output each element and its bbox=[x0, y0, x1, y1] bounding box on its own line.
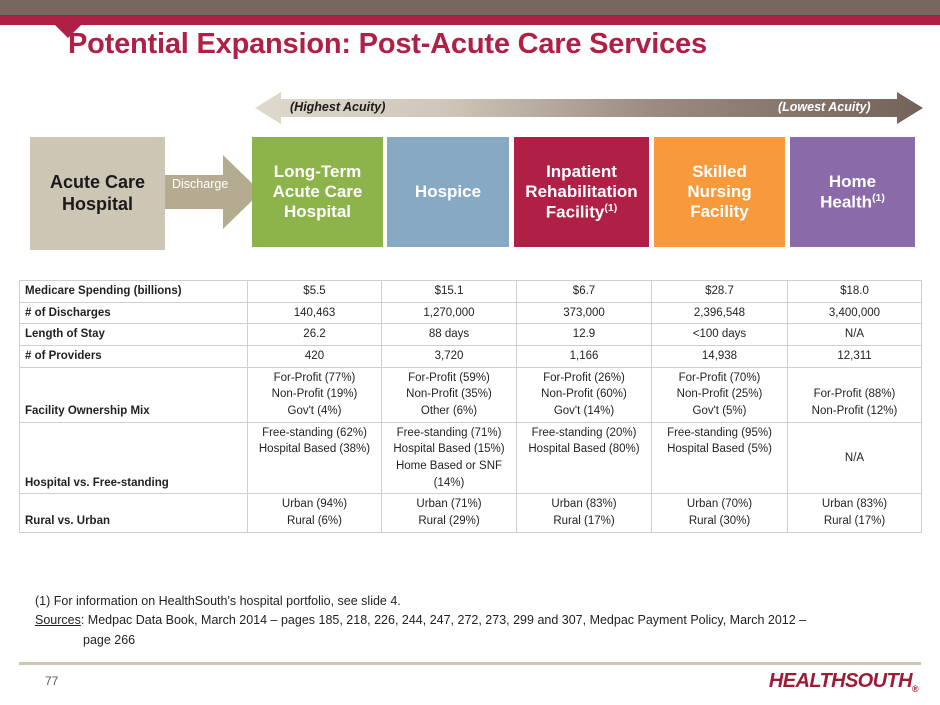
table-row: Rural vs. Urban Urban (94%) Rural (6%) U… bbox=[20, 494, 922, 532]
cell-freestanding-snf: Free-standing (95%) Hospital Based (5%) bbox=[652, 422, 788, 494]
flow-box-skilled-nursing-facility[interactable]: Skilled Nursing Facility bbox=[654, 137, 785, 247]
cell-providers-snf: 14,938 bbox=[652, 346, 788, 368]
cell-ownership-ltach: For-Profit (77%) Non-Profit (19%) Gov't … bbox=[248, 367, 382, 422]
flow-box-inpatient-rehabilitation-facility[interactable]: Inpatient Rehabilitation Facility(1) bbox=[514, 137, 649, 247]
table-row: Hospital vs. Free-standing Free-standing… bbox=[20, 422, 922, 494]
post-acute-comparison-table: Medicare Spending (billions) $5.5 $15.1 … bbox=[19, 280, 922, 533]
table-row: # of Providers 420 3,720 1,166 14,938 12… bbox=[20, 346, 922, 368]
registered-mark-icon: ® bbox=[912, 684, 918, 694]
table-row: # of Discharges 140,463 1,270,000 373,00… bbox=[20, 302, 922, 324]
row-label-rural-vs-urban: Rural vs. Urban bbox=[20, 494, 248, 532]
brand-wordmark: HEALTHSOUTH bbox=[769, 670, 912, 692]
row-label-facility-ownership-mix: Facility Ownership Mix bbox=[20, 367, 248, 422]
cell-discharges-snf: 2,396,548 bbox=[652, 302, 788, 324]
cell-discharges-ltach: 140,463 bbox=[248, 302, 382, 324]
flow-box-ltach[interactable]: Long-Term Acute Care Hospital bbox=[252, 137, 383, 247]
flow-box-home-health[interactable]: Home Health(1) bbox=[790, 137, 915, 247]
cell-rural-urban-hh: Urban (83%) Rural (17%) bbox=[788, 494, 922, 532]
cell-providers-ltach: 420 bbox=[248, 346, 382, 368]
hospice-line1: Hospice bbox=[415, 182, 481, 201]
cell-ownership-irf: For-Profit (26%) Non-Profit (60%) Gov't … bbox=[517, 367, 652, 422]
hh-footnote-marker: (1) bbox=[872, 192, 885, 204]
row-label-medicare-spending: Medicare Spending (billions) bbox=[20, 281, 248, 303]
cell-length-of-stay-ltach: 26.2 bbox=[248, 324, 382, 346]
page-title: Potential Expansion: Post-Acute Care Ser… bbox=[68, 28, 908, 61]
row-label-hospital-vs-freestanding: Hospital vs. Free-standing bbox=[20, 422, 248, 494]
acuity-highest-label: (Highest Acuity) bbox=[290, 100, 385, 114]
cell-ownership-hh: For-Profit (88%) Non-Profit (12%) bbox=[788, 367, 922, 422]
snf-line3: Facility bbox=[690, 202, 749, 221]
cell-freestanding-hh: N/A bbox=[788, 422, 922, 494]
cell-length-of-stay-snf: <100 days bbox=[652, 324, 788, 346]
sources-text: : Medpac Data Book, March 2014 – pages 1… bbox=[81, 613, 806, 627]
discharge-label: Discharge bbox=[172, 177, 228, 191]
top-decor-bar-crimson bbox=[0, 15, 940, 25]
cell-providers-irf: 1,166 bbox=[517, 346, 652, 368]
cell-freestanding-hospice: Free-standing (71%) Hospital Based (15%)… bbox=[382, 422, 517, 494]
flow-box-hospice[interactable]: Hospice bbox=[387, 137, 509, 247]
care-settings-flow-row: Acute Care Hospital Long-Term Acute Care… bbox=[0, 137, 940, 249]
cell-rural-urban-irf: Urban (83%) Rural (17%) bbox=[517, 494, 652, 532]
acuity-lowest-label: (Lowest Acuity) bbox=[778, 100, 871, 114]
ltach-line3: Hospital bbox=[284, 202, 351, 221]
table-row: Length of Stay 26.2 88 days 12.9 <100 da… bbox=[20, 324, 922, 346]
cell-length-of-stay-irf: 12.9 bbox=[517, 324, 652, 346]
cell-rural-urban-ltach: Urban (94%) Rural (6%) bbox=[248, 494, 382, 532]
footnotes-block: (1) For information on HealthSouth's hos… bbox=[35, 592, 915, 650]
row-label-discharges: # of Discharges bbox=[20, 302, 248, 324]
sources-line: Sources: Medpac Data Book, March 2014 – … bbox=[35, 611, 915, 650]
acute-care-line1: Acute Care bbox=[50, 172, 145, 192]
cell-medicare-spending-hospice: $15.1 bbox=[382, 281, 517, 303]
snf-line2: Nursing bbox=[687, 182, 751, 201]
cell-ownership-hospice: For-Profit (59%) Non-Profit (35%) Other … bbox=[382, 367, 517, 422]
cell-length-of-stay-hospice: 88 days bbox=[382, 324, 517, 346]
irf-line1: Inpatient bbox=[546, 162, 617, 181]
cell-discharges-hh: 3,400,000 bbox=[788, 302, 922, 324]
hh-line2: Health bbox=[820, 192, 872, 211]
table-row: Medicare Spending (billions) $5.5 $15.1 … bbox=[20, 281, 922, 303]
sources-continued: page 266 bbox=[35, 631, 915, 650]
top-decor-bar-brown bbox=[0, 0, 940, 15]
ltach-line1: Long-Term bbox=[274, 162, 362, 181]
cell-freestanding-irf: Free-standing (20%) Hospital Based (80%) bbox=[517, 422, 652, 494]
sources-label: Sources bbox=[35, 613, 81, 627]
footnote-1: (1) For information on HealthSouth's hos… bbox=[35, 592, 915, 611]
page-number: 77 bbox=[45, 674, 58, 688]
row-label-providers: # of Providers bbox=[20, 346, 248, 368]
cell-ownership-snf: For-Profit (70%) Non-Profit (25%) Gov't … bbox=[652, 367, 788, 422]
cell-freestanding-ltach: Free-standing (62%) Hospital Based (38%) bbox=[248, 422, 382, 494]
healthsouth-logo: HEALTHSOUTH® bbox=[769, 670, 918, 694]
irf-line2: Rehabilitation bbox=[525, 182, 637, 201]
irf-footnote-marker: (1) bbox=[604, 202, 617, 214]
cell-rural-urban-snf: Urban (70%) Rural (30%) bbox=[652, 494, 788, 532]
cell-providers-hh: 12,311 bbox=[788, 346, 922, 368]
discharge-arrow-icon bbox=[165, 155, 261, 229]
acute-care-line2: Hospital bbox=[62, 194, 133, 214]
cell-medicare-spending-ltach: $5.5 bbox=[248, 281, 382, 303]
irf-line3: Facility bbox=[546, 202, 605, 221]
cell-medicare-spending-hh: $18.0 bbox=[788, 281, 922, 303]
footer-divider bbox=[19, 662, 921, 665]
cell-providers-hospice: 3,720 bbox=[382, 346, 517, 368]
cell-medicare-spending-snf: $28.7 bbox=[652, 281, 788, 303]
table-body: Medicare Spending (billions) $5.5 $15.1 … bbox=[20, 281, 922, 533]
cell-discharges-hospice: 1,270,000 bbox=[382, 302, 517, 324]
cell-length-of-stay-hh: N/A bbox=[788, 324, 922, 346]
cell-rural-urban-hospice: Urban (71%) Rural (29%) bbox=[382, 494, 517, 532]
hh-line1: Home bbox=[829, 172, 876, 191]
table-row: Facility Ownership Mix For-Profit (77%) … bbox=[20, 367, 922, 422]
flow-box-acute-care-hospital[interactable]: Acute Care Hospital bbox=[30, 137, 165, 250]
snf-line1: Skilled bbox=[692, 162, 747, 181]
cell-discharges-irf: 373,000 bbox=[517, 302, 652, 324]
ltach-line2: Acute Care bbox=[273, 182, 363, 201]
cell-medicare-spending-irf: $6.7 bbox=[517, 281, 652, 303]
row-label-length-of-stay: Length of Stay bbox=[20, 324, 248, 346]
